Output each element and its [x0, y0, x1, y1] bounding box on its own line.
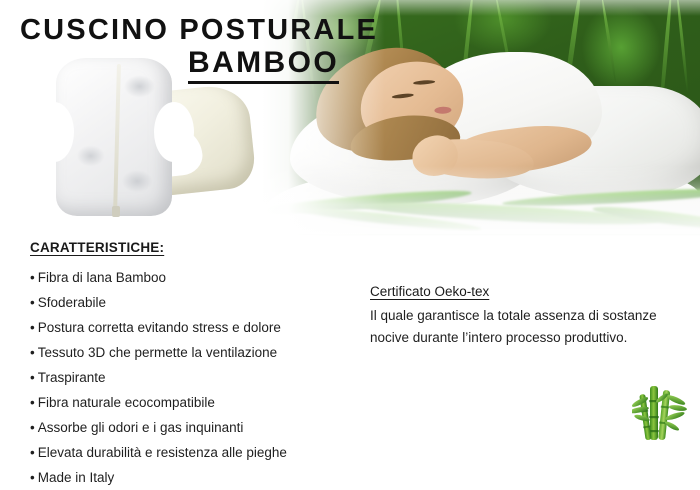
product-advertisement-page: CUSCINO POSTURALE BAMBOO CARATTERISTICHE…: [0, 0, 700, 490]
list-item: •Made in Italy: [30, 465, 360, 490]
bullet-icon: •: [30, 445, 35, 460]
list-item: •Assorbe gli odori e i gas inquinanti: [30, 415, 360, 440]
pillow-cover: [56, 58, 172, 216]
certificate-section: Certificato Oeko-tex Il quale garantisce…: [370, 284, 680, 349]
features-list: •Fibra di lana Bamboo •Sfoderabile •Post…: [30, 265, 360, 490]
list-item: •Elevata durabilità e resistenza alle pi…: [30, 440, 360, 465]
bullet-icon: •: [30, 420, 35, 435]
page-title-line1: CUSCINO POSTURALE: [20, 14, 378, 47]
list-item-label: Traspirante: [38, 370, 106, 385]
woman-lips: [434, 106, 451, 114]
certificate-description: Il quale garantisce la totale assenza di…: [370, 305, 680, 349]
bamboo-cane: [649, 386, 659, 440]
list-item: •Tessuto 3D che permette la ventilazione: [30, 340, 360, 365]
list-item-label: Fibra naturale ecocompatibile: [38, 395, 215, 410]
woman-eye-closed: [392, 93, 414, 99]
list-item-label: Postura corretta evitando stress e dolor…: [38, 320, 281, 335]
bamboo-stalks-icon: [632, 380, 688, 442]
list-item-label: Elevata durabilità e resistenza alle pie…: [38, 445, 287, 460]
zipper: [113, 64, 121, 214]
bullet-icon: •: [30, 295, 35, 310]
cover-waist-left: [34, 102, 74, 162]
list-item-label: Assorbe gli odori e i gas inquinanti: [38, 420, 244, 435]
list-item-label: Made in Italy: [38, 470, 115, 485]
bullet-icon: •: [30, 270, 35, 285]
list-item: •Sfoderabile: [30, 290, 360, 315]
list-item: •Postura corretta evitando stress e dolo…: [30, 315, 360, 340]
bullet-icon: •: [30, 395, 35, 410]
bullet-icon: •: [30, 470, 35, 485]
list-item: •Fibra di lana Bamboo: [30, 265, 360, 290]
list-item: •Traspirante: [30, 365, 360, 390]
bullet-icon: •: [30, 345, 35, 360]
zipper-pull: [112, 206, 120, 217]
certificate-title: Certificato Oeko-tex: [370, 284, 680, 299]
page-title-line2: BAMBOO: [188, 46, 339, 84]
bullet-icon: •: [30, 370, 35, 385]
cover-waist-right: [154, 102, 194, 162]
woman-eye-closed: [413, 80, 435, 86]
list-item: •Fibra naturale ecocompatibile: [30, 390, 360, 415]
features-heading: CARATTERISTICHE:: [30, 240, 360, 255]
list-item-label: Tessuto 3D che permette la ventilazione: [38, 345, 277, 360]
bullet-icon: •: [30, 320, 35, 335]
list-item-label: Fibra di lana Bamboo: [38, 270, 166, 285]
features-section: CARATTERISTICHE: •Fibra di lana Bamboo •…: [30, 240, 360, 490]
list-item-label: Sfoderabile: [38, 295, 106, 310]
